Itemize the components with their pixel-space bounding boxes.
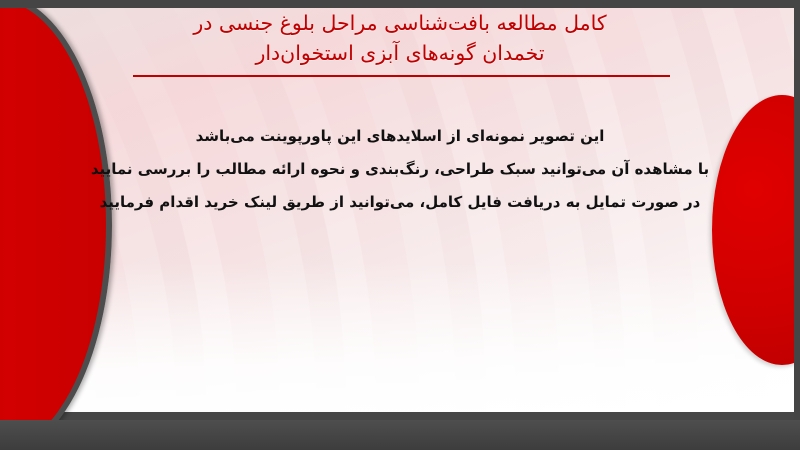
title-line-2: تخمدان گونه‌های آبزی استخوان‌دار bbox=[100, 38, 700, 68]
title-underline bbox=[133, 75, 670, 77]
body-line-1: این تصویر نمونه‌ای از اسلایدهای این پاور… bbox=[60, 120, 740, 153]
title-line-1: کامل مطالعه بافت‌شناسی مراحل بلوغ جنسی د… bbox=[100, 8, 700, 38]
frame-edge-top bbox=[0, 0, 800, 8]
body-line-2: با مشاهده آن می‌توانید سبک طراحی، رنگ‌بن… bbox=[60, 153, 740, 186]
slide-title: کامل مطالعه بافت‌شناسی مراحل بلوغ جنسی د… bbox=[100, 8, 700, 68]
body-line-3: در صورت تمایل به دریافت فایل کامل، می‌تو… bbox=[60, 186, 740, 219]
slide-canvas: کامل مطالعه بافت‌شناسی مراحل بلوغ جنسی د… bbox=[0, 0, 800, 450]
frame-edge-bottom bbox=[0, 420, 800, 450]
slide-body-text: این تصویر نمونه‌ای از اسلایدهای این پاور… bbox=[60, 120, 740, 219]
background-bottom-sheen bbox=[0, 262, 794, 412]
frame-edge-right bbox=[794, 0, 800, 450]
